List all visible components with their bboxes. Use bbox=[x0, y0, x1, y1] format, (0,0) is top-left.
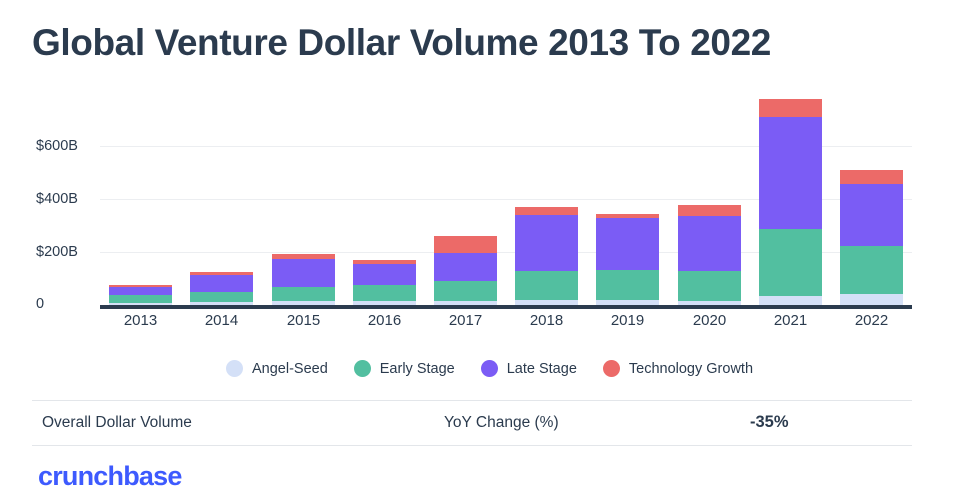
legend-swatch-icon bbox=[481, 360, 498, 377]
bar-segment-technology-growth[interactable] bbox=[678, 205, 741, 216]
y-axis-tick-200: $200B bbox=[36, 244, 100, 260]
bar-segment-late-stage[interactable] bbox=[190, 275, 253, 292]
bar-segment-early-stage[interactable] bbox=[678, 271, 741, 301]
bar-segment-early-stage[interactable] bbox=[515, 271, 578, 301]
bar-segment-early-stage[interactable] bbox=[190, 292, 253, 302]
bar-segment-late-stage[interactable] bbox=[109, 287, 172, 295]
bar-segment-early-stage[interactable] bbox=[596, 270, 659, 300]
legend-label: Late Stage bbox=[507, 361, 577, 377]
bar-segment-technology-growth[interactable] bbox=[759, 99, 822, 118]
bar-segment-late-stage[interactable] bbox=[353, 264, 416, 285]
bar-segment-technology-growth[interactable] bbox=[515, 207, 578, 215]
x-axis-label-2020: 2020 bbox=[678, 312, 741, 329]
bar-2018[interactable] bbox=[515, 207, 578, 305]
bar-segment-technology-growth[interactable] bbox=[434, 236, 497, 253]
x-axis-label-2017: 2017 bbox=[434, 312, 497, 329]
bar-segment-early-stage[interactable] bbox=[759, 229, 822, 296]
x-axis-label-2015: 2015 bbox=[272, 312, 335, 329]
yoy-change-label: YoY Change (%) bbox=[444, 414, 559, 432]
legend-swatch-icon bbox=[354, 360, 371, 377]
legend-item-angel-seed[interactable]: Angel-Seed bbox=[226, 360, 328, 377]
bar-2017[interactable] bbox=[434, 236, 497, 305]
bar-segment-angel-seed[interactable] bbox=[759, 296, 822, 305]
chart-legend: Angel-SeedEarly StageLate StageTechnolog… bbox=[0, 360, 979, 377]
overall-dollar-volume-label: Overall Dollar Volume bbox=[42, 414, 192, 432]
bar-segment-late-stage[interactable] bbox=[678, 216, 741, 271]
bar-2021[interactable] bbox=[759, 99, 822, 305]
bar-2014[interactable] bbox=[190, 272, 253, 305]
x-axis-label-2013: 2013 bbox=[109, 312, 172, 329]
bar-2016[interactable] bbox=[353, 260, 416, 305]
bar-segment-early-stage[interactable] bbox=[353, 285, 416, 301]
bar-segment-early-stage[interactable] bbox=[109, 295, 172, 303]
bar-2013[interactable] bbox=[109, 285, 172, 305]
y-axis-tick-label: 0 bbox=[36, 296, 100, 312]
legend-label: Early Stage bbox=[380, 361, 455, 377]
x-axis-label-2016: 2016 bbox=[353, 312, 416, 329]
y-axis-tick-label: $200B bbox=[36, 244, 100, 260]
legend-label: Technology Growth bbox=[629, 361, 753, 377]
bar-2022[interactable] bbox=[840, 170, 903, 305]
legend-swatch-icon bbox=[603, 360, 620, 377]
legend-swatch-icon bbox=[226, 360, 243, 377]
bar-segment-late-stage[interactable] bbox=[596, 218, 659, 270]
crunchbase-logo: crunchbase bbox=[38, 461, 182, 492]
bar-segment-late-stage[interactable] bbox=[434, 253, 497, 281]
legend-item-late-stage[interactable]: Late Stage bbox=[481, 360, 577, 377]
legend-item-technology-growth[interactable]: Technology Growth bbox=[603, 360, 753, 377]
plot-area: $600B $400B $200B 0 bbox=[100, 112, 912, 305]
y-axis-tick-label: $600B bbox=[36, 138, 100, 154]
bar-2020[interactable] bbox=[678, 205, 741, 305]
bar-segment-early-stage[interactable] bbox=[840, 246, 903, 294]
x-axis-label-2021: 2021 bbox=[759, 312, 822, 329]
summary-row: Overall Dollar Volume YoY Change (%) -35… bbox=[32, 400, 912, 446]
legend-item-early-stage[interactable]: Early Stage bbox=[354, 360, 455, 377]
chart-container: $600B $400B $200B 0 20132014201520162017… bbox=[32, 112, 912, 312]
y-axis-tick-label: $400B bbox=[36, 191, 100, 207]
chart-page: Global Venture Dollar Volume 2013 To 202… bbox=[0, 0, 979, 492]
y-axis-tick-600: $600B bbox=[36, 138, 100, 154]
x-axis-labels: 2013201420152016201720182019202020212022 bbox=[100, 312, 912, 336]
legend-label: Angel-Seed bbox=[252, 361, 328, 377]
bar-segment-angel-seed[interactable] bbox=[840, 294, 903, 305]
x-axis-label-2022: 2022 bbox=[840, 312, 903, 329]
x-axis-line bbox=[100, 305, 912, 309]
bar-2015[interactable] bbox=[272, 254, 335, 305]
bar-segment-late-stage[interactable] bbox=[515, 215, 578, 271]
bar-segment-early-stage[interactable] bbox=[272, 287, 335, 301]
bar-segment-late-stage[interactable] bbox=[759, 117, 822, 229]
bar-segment-early-stage[interactable] bbox=[434, 281, 497, 301]
bar-segment-late-stage[interactable] bbox=[272, 259, 335, 287]
page-title: Global Venture Dollar Volume 2013 To 202… bbox=[32, 22, 771, 64]
bar-segment-late-stage[interactable] bbox=[840, 184, 903, 246]
x-axis-label-2019: 2019 bbox=[596, 312, 659, 329]
bar-group bbox=[100, 112, 912, 305]
yoy-change-value: -35% bbox=[750, 413, 789, 432]
bar-segment-technology-growth[interactable] bbox=[840, 170, 903, 184]
y-axis-tick-0: 0 bbox=[36, 296, 100, 312]
y-axis-tick-400: $400B bbox=[36, 191, 100, 207]
x-axis-label-2018: 2018 bbox=[515, 312, 578, 329]
x-axis-label-2014: 2014 bbox=[190, 312, 253, 329]
bar-2019[interactable] bbox=[596, 214, 659, 305]
